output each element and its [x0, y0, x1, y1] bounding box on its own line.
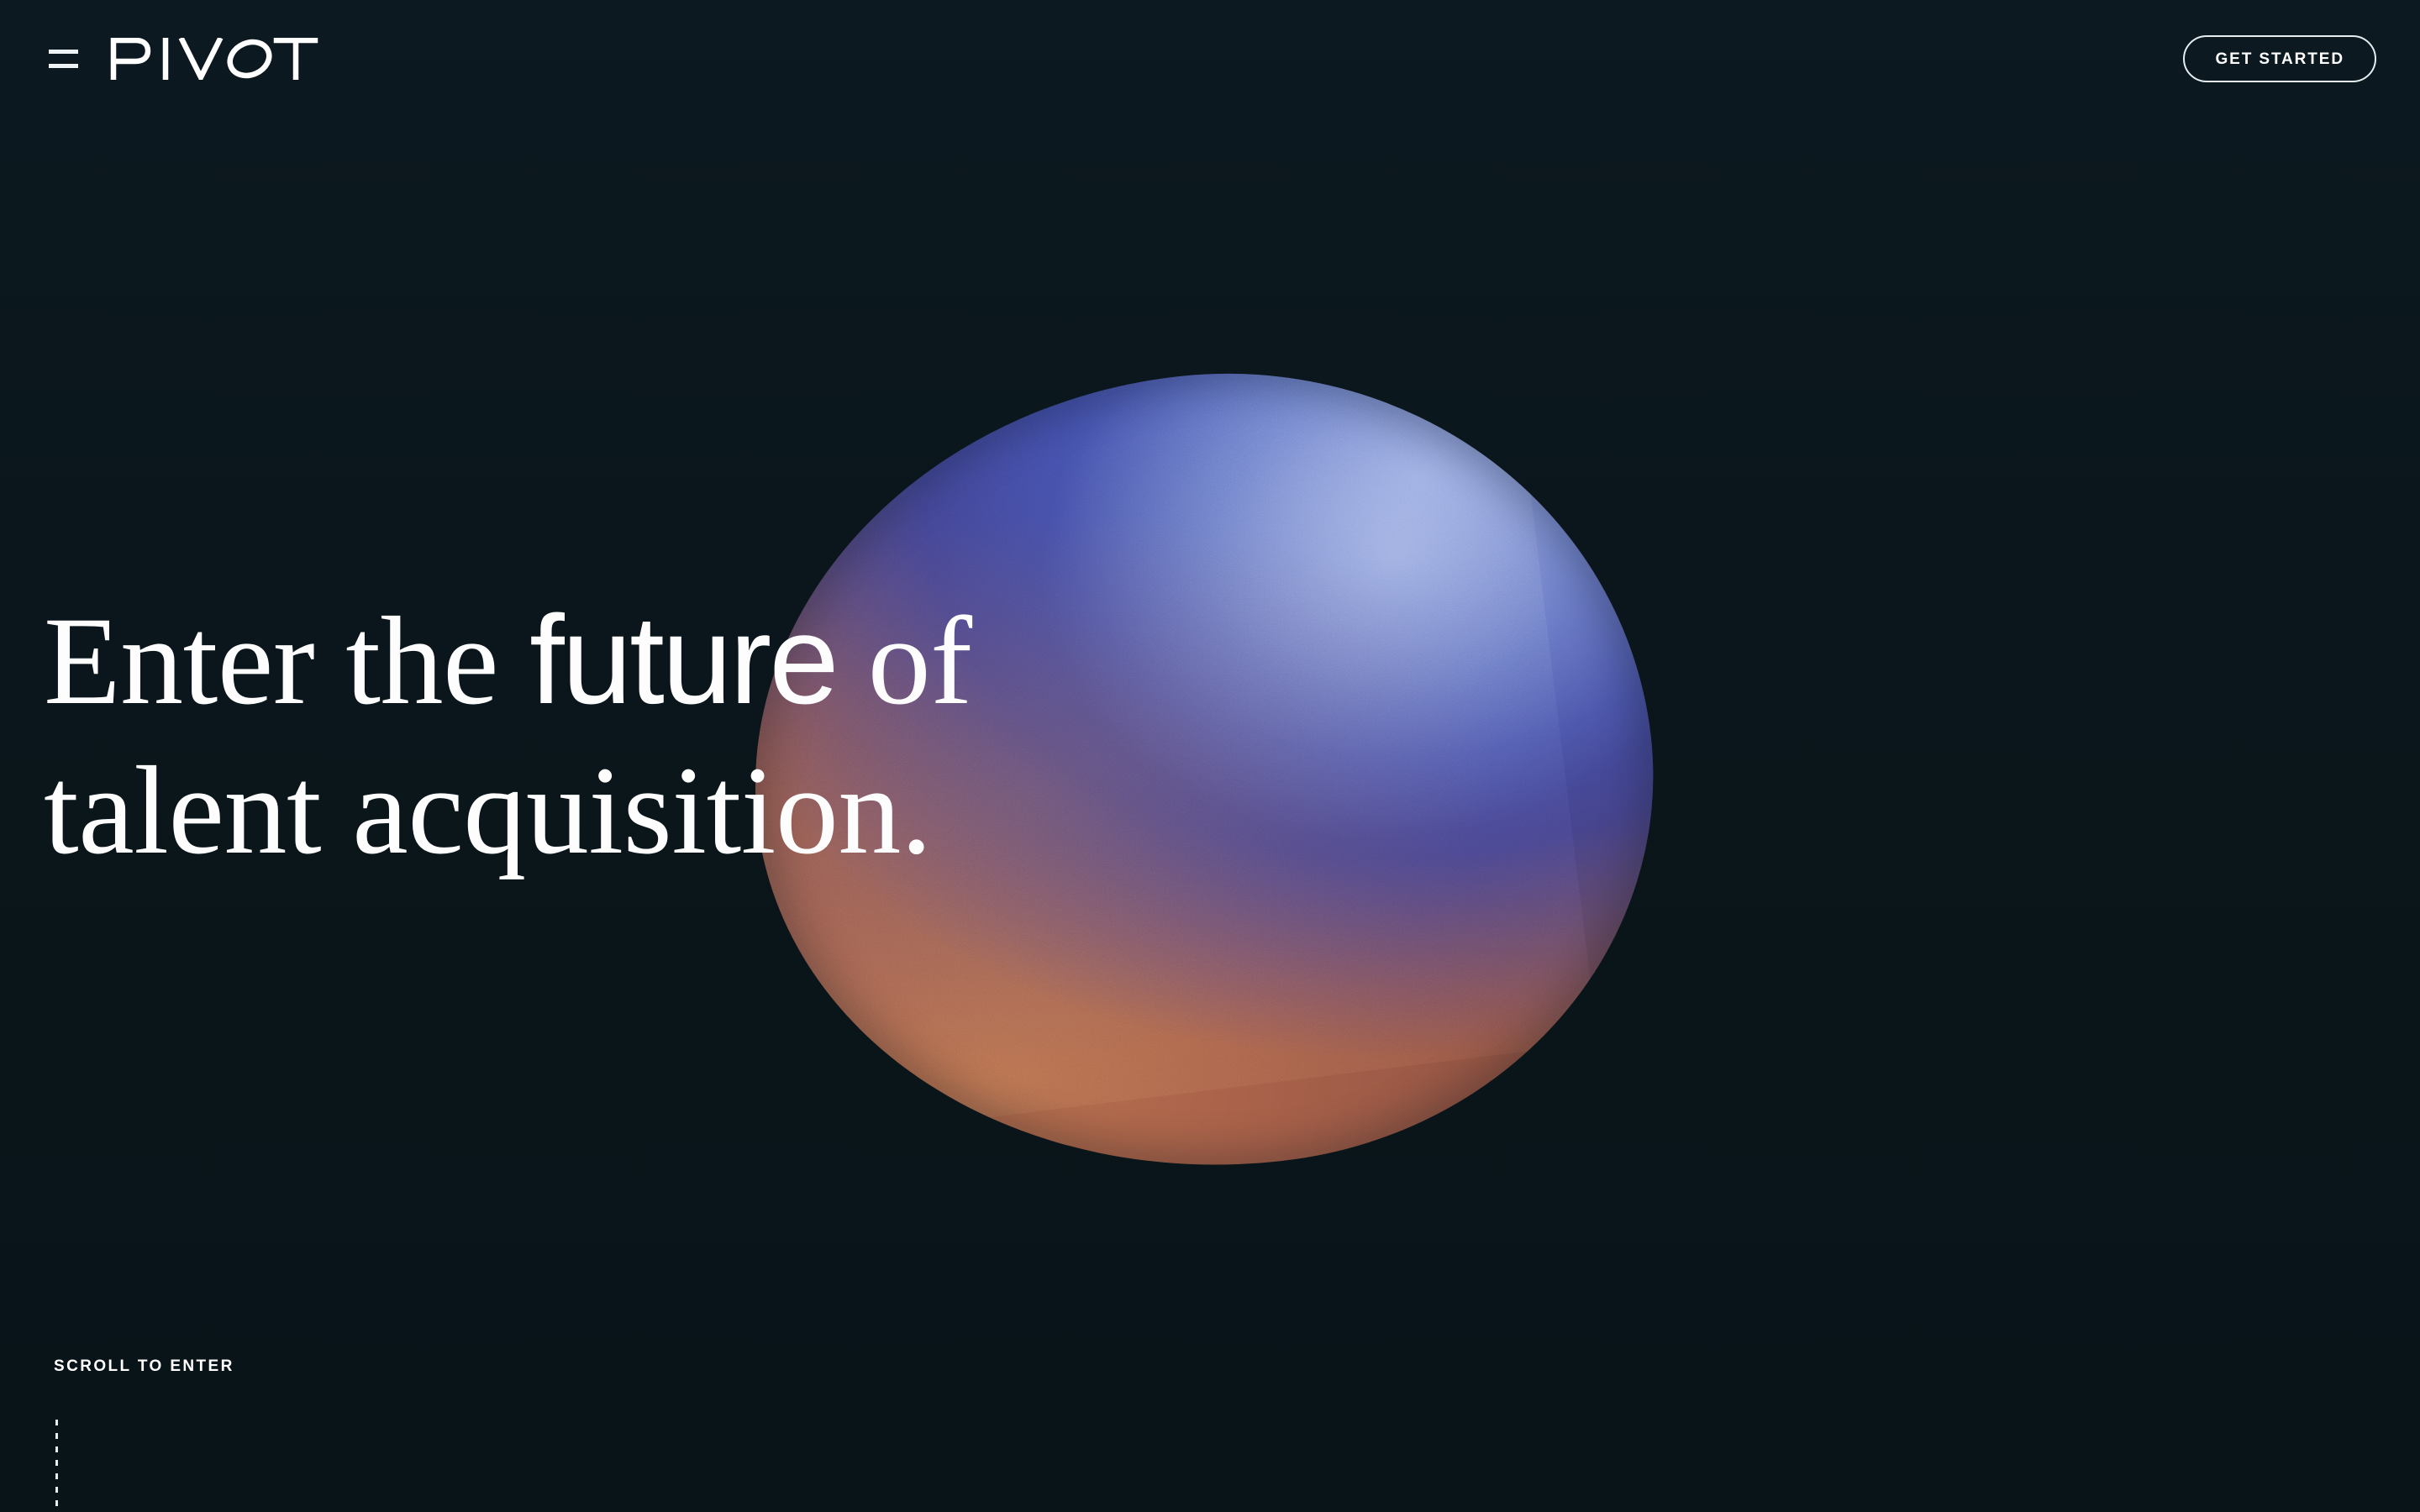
pivot-wordmark: [110, 39, 318, 79]
page-title: Enter the future of talent acquisition.: [44, 596, 1287, 874]
pivot-logotype-icon: [110, 38, 318, 80]
hero-stage: GET STARTED Enter the future of talent a…: [0, 0, 2420, 1512]
get-started-button[interactable]: GET STARTED: [2183, 35, 2376, 82]
hamburger-menu-icon[interactable]: [49, 50, 78, 68]
scroll-to-enter-label: SCROLL TO ENTER: [54, 1357, 234, 1376]
brand-logo[interactable]: [49, 39, 318, 79]
dashed-vertical-line-icon: [55, 1420, 58, 1512]
headline-emphasis: future: [529, 589, 837, 730]
site-header: GET STARTED: [0, 0, 2420, 118]
headline-line-1: Enter the future of: [44, 596, 1287, 724]
scroll-cue[interactable]: SCROLL TO ENTER: [54, 1357, 234, 1512]
headline-line-2: talent acquisition.: [44, 748, 1287, 874]
headline-text-1: Enter the: [44, 591, 529, 731]
headline-text-2: of: [837, 591, 972, 731]
